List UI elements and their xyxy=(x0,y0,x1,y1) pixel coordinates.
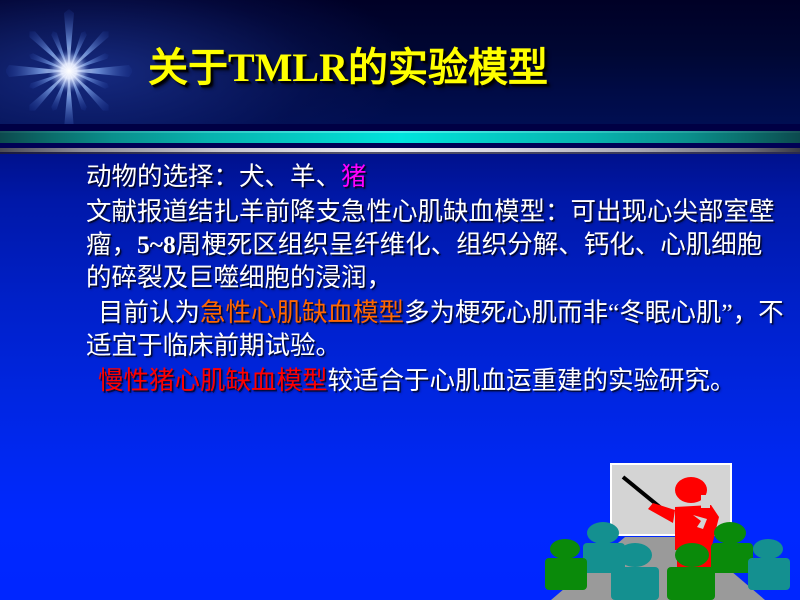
divider-accent-band xyxy=(0,131,800,143)
text-run: 目前认为 xyxy=(98,298,200,327)
text-run: 动物的选择：犬、羊、 xyxy=(86,162,341,191)
divider-silver-line xyxy=(0,148,800,152)
paragraph-animal-selection: 动物的选择：犬、羊、猪 xyxy=(86,160,786,193)
paragraph-current-view: 目前认为急性心肌缺血模型多为梗死心肌而非“冬眠心肌”，不适宜于临床前期试验。 xyxy=(86,296,786,362)
text-run: 较适合于心肌血运重建的实验研究。 xyxy=(328,366,736,395)
slide-canvas: 关于TMLR的实验模型 动物的选择：犬、羊、猪 文献报道结扎羊前降支急性心肌缺血… xyxy=(0,0,800,600)
text-run-highlight-pig: 猪 xyxy=(341,162,367,191)
paragraph-literature-report: 文献报道结扎羊前降支急性心肌缺血模型：可出现心尖部室壁瘤，5~8周梗死区组织呈纤… xyxy=(86,195,786,294)
slide-body: 动物的选择：犬、羊、猪 文献报道结扎羊前降支急性心肌缺血模型：可出现心尖部室壁瘤… xyxy=(86,160,786,399)
text-run-week-range: 5~8 xyxy=(137,230,176,259)
text-run-highlight-chronic-model: 慢性猪心肌缺血模型 xyxy=(98,366,328,395)
text-run: 周梗死区组织呈纤维化、组织分解、钙化、心肌细胞的碎裂及巨噬细胞的浸润， xyxy=(86,230,762,292)
paragraph-chronic-pig-model: 慢性猪心肌缺血模型较适合于心肌血运重建的实验研究。 xyxy=(86,364,786,397)
divider-top-shadow xyxy=(0,124,800,131)
slide-title: 关于TMLR的实验模型 xyxy=(148,48,548,88)
lecture-presentation-clipart xyxy=(515,455,800,600)
text-run-highlight-acute-model: 急性心肌缺血模型 xyxy=(200,298,404,327)
